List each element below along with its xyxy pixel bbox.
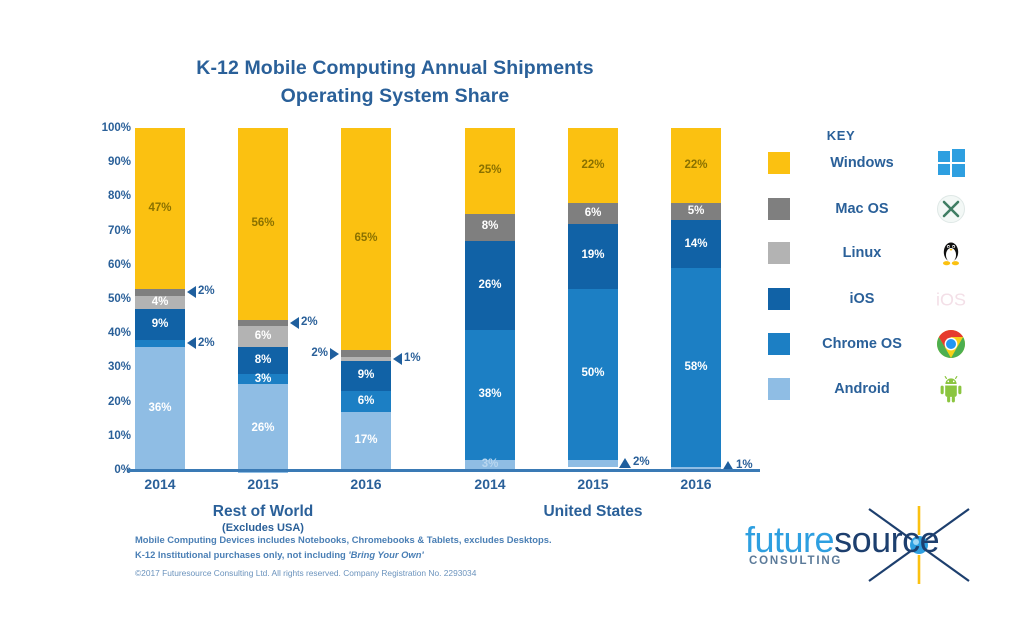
logo-word-source: source — [834, 519, 939, 560]
segment-value-label: 5% — [688, 206, 705, 218]
segment-value-label: 6% — [255, 331, 272, 343]
bar-segment[interactable]: 58% — [671, 268, 721, 466]
legend-item-mac-os[interactable]: Mac OS — [768, 196, 968, 222]
bar-segment[interactable]: 2%2% — [568, 460, 618, 467]
value-callout: 1% — [391, 353, 423, 365]
footnote-line-2-italic: 'Bring Your Own' — [348, 549, 423, 560]
bar-segment[interactable]: 22% — [671, 128, 721, 203]
bar-segment[interactable]: 50% — [568, 289, 618, 460]
segment-value-label: 4% — [152, 297, 169, 309]
group-label-text: United States — [503, 503, 683, 521]
legend-color-swatch — [768, 378, 790, 400]
legend-item-windows[interactable]: Windows — [768, 150, 968, 176]
bar-segment[interactable]: 4% — [135, 296, 185, 310]
bar-segment[interactable]: 2%2% — [135, 289, 185, 296]
legend-item-ios[interactable]: iOSiOS — [768, 286, 968, 312]
legend-color-swatch — [768, 198, 790, 220]
bar-segment[interactable]: 22% — [568, 128, 618, 203]
callout-value-label: 2% — [196, 338, 217, 350]
bar-segment[interactable]: 36% — [135, 347, 185, 470]
y-axis-tick-label: 30% — [87, 361, 131, 373]
axis-group-label: Rest of World(Excludes USA) — [173, 503, 353, 534]
legend-item-chrome-os[interactable]: Chrome OS — [768, 331, 968, 357]
segment-value-label: 3% — [255, 374, 272, 386]
y-axis-tick-label: 80% — [87, 190, 131, 202]
callout-arrow-icon — [619, 458, 631, 468]
callout-arrow-icon — [187, 337, 196, 349]
x-axis-tick-label: 2014 — [130, 476, 190, 492]
y-axis-tick-label: 60% — [87, 259, 131, 271]
chart-title-line-2: Operating System Share — [0, 83, 790, 111]
logo-tagline: CONSULTING — [749, 555, 842, 567]
callout-arrow-icon — [330, 348, 339, 360]
bar-segment[interactable]: 2%2% — [341, 350, 391, 357]
segment-value-label: 50% — [581, 368, 604, 380]
value-callout: 2% — [288, 317, 320, 329]
callout-arrow-icon — [290, 317, 299, 329]
bar-segment[interactable]: 6% — [568, 203, 618, 224]
svg-text:iOS: iOS — [936, 290, 966, 310]
chrome-logo-icon — [934, 329, 968, 359]
plot-area: 47%2%2%4%9%2%2%36%56%2%2%6%8%3%26%65%2%2… — [135, 128, 760, 470]
bar-segment[interactable]: 38% — [465, 330, 515, 460]
bar-segment[interactable]: 19% — [568, 224, 618, 289]
bar-segment[interactable]: 47% — [135, 128, 185, 289]
segment-value-label: 65% — [354, 233, 377, 245]
bar-segment[interactable]: 8% — [465, 214, 515, 241]
legend-color-swatch — [768, 152, 790, 174]
bar-segment[interactable]: 3% — [238, 374, 288, 384]
bar-segment[interactable]: 26% — [238, 384, 288, 473]
logo-word-future: future — [745, 519, 834, 560]
legend-color-swatch — [768, 242, 790, 264]
y-axis-tick-label: 0% — [87, 464, 131, 476]
x-axis-baseline — [128, 469, 760, 472]
bar-segment[interactable]: 2%2% — [238, 320, 288, 327]
segment-value-label: 26% — [478, 280, 501, 292]
bar-segment[interactable]: 17% — [341, 412, 391, 470]
stacked-bar[interactable]: 25%8%26%38%3% — [465, 128, 515, 470]
segment-value-label: 9% — [152, 319, 169, 331]
windows-logo-icon — [934, 148, 968, 178]
y-axis-tick-label: 70% — [87, 225, 131, 237]
stacked-bar[interactable]: 56%2%2%6%8%3%26% — [238, 128, 288, 470]
x-axis-tick-label: 2015 — [563, 476, 623, 492]
legend-item-label: iOS — [790, 291, 934, 307]
legend-color-swatch — [768, 333, 790, 355]
legend-item-label: Linux — [790, 245, 934, 261]
android-logo-icon — [934, 374, 968, 404]
stacked-bar[interactable]: 47%2%2%4%9%2%2%36% — [135, 128, 185, 470]
legend-item-android[interactable]: Android — [768, 376, 968, 402]
footnotes: Mobile Computing Devices includes Notebo… — [135, 533, 552, 562]
callout-value-label: 2% — [631, 457, 652, 469]
legend-item-label: Chrome OS — [790, 336, 934, 352]
x-axis-tick-label: 2016 — [336, 476, 396, 492]
callout-arrow-icon — [393, 353, 402, 365]
footnote-line-2: K-12 Institutional purchases only, not i… — [135, 548, 552, 563]
bar-segment[interactable]: 8% — [238, 347, 288, 374]
bar-segment[interactable]: 9% — [341, 361, 391, 392]
y-axis-tick-label: 100% — [87, 122, 131, 134]
stacked-bar[interactable]: 65%2%2%1%1%9%6%17% — [341, 128, 391, 470]
chart-title-line-1: K-12 Mobile Computing Annual Shipments — [0, 55, 790, 83]
segment-value-label: 36% — [148, 403, 171, 415]
x-axis-tick-label: 2015 — [233, 476, 293, 492]
value-callout: 2% — [309, 348, 341, 360]
footnote-line-1: Mobile Computing Devices includes Notebo… — [135, 533, 552, 548]
segment-value-label: 47% — [148, 203, 171, 215]
copyright-notice: ©2017 Futuresource Consulting Ltd. All r… — [135, 568, 476, 578]
bar-segment[interactable]: 9% — [135, 309, 185, 340]
segment-value-label: 22% — [684, 160, 707, 172]
bar-segment[interactable]: 6% — [341, 391, 391, 412]
x-axis-tick-label: 2014 — [460, 476, 520, 492]
segment-value-label: 22% — [581, 160, 604, 172]
callout-value-label: 2% — [299, 317, 320, 329]
segment-value-label: 38% — [478, 389, 501, 401]
footnote-line-2-prefix: K-12 Institutional purchases only, not i… — [135, 549, 348, 560]
callout-arrow-icon — [187, 286, 196, 298]
group-label-text: Rest of World — [173, 503, 353, 521]
bar-segment[interactable]: 56% — [238, 128, 288, 320]
segment-value-label: 8% — [482, 221, 499, 233]
bar-segment[interactable]: 5% — [671, 203, 721, 220]
callout-value-label: 2% — [309, 348, 330, 360]
y-axis-tick-label: 10% — [87, 430, 131, 442]
y-axis-tick-label: 40% — [87, 327, 131, 339]
segment-value-label: 25% — [478, 165, 501, 177]
futuresource-logo: futuresource CONSULTING — [745, 505, 985, 585]
segment-value-label: 14% — [684, 239, 707, 251]
segment-value-label: 56% — [251, 218, 274, 230]
bar-segment[interactable]: 2%2% — [135, 340, 185, 347]
segment-value-label: 6% — [585, 208, 602, 220]
legend-title: KEY — [776, 128, 906, 143]
bar-segment[interactable]: 65% — [341, 128, 391, 350]
stacked-bar[interactable]: 22%6%19%50%2%2% — [568, 128, 618, 470]
chart-title: K-12 Mobile Computing Annual Shipments O… — [0, 55, 790, 110]
segment-value-label: 19% — [581, 250, 604, 262]
bar-segment[interactable]: 14% — [671, 220, 721, 268]
legend-item-label: Android — [790, 381, 934, 397]
y-axis-tick-label: 90% — [87, 156, 131, 168]
segment-value-label: 26% — [251, 423, 274, 435]
callout-value-label: 1% — [402, 353, 423, 365]
bar-segment[interactable]: 6% — [238, 326, 288, 347]
value-callout: 2% — [185, 286, 217, 298]
legend: KEY WindowsMac OSLinuxiOSiOSChrome OSAnd… — [768, 128, 968, 143]
bar-segment[interactable]: 25% — [465, 128, 515, 214]
legend-color-swatch — [768, 288, 790, 310]
value-callout: 2% — [185, 337, 217, 349]
value-callout: 2% — [618, 457, 652, 469]
segment-value-label: 8% — [255, 355, 272, 367]
x-axis-tick-label: 2016 — [666, 476, 726, 492]
segment-value-label: 17% — [354, 435, 377, 447]
segment-value-label: 9% — [358, 370, 375, 382]
y-axis: 100%90%80%70%60%50%40%30%20%10%0% — [87, 128, 131, 470]
linux-tux-logo-icon — [934, 238, 968, 268]
legend-item-linux[interactable]: Linux — [768, 240, 968, 266]
ios-logo-icon: iOS — [934, 284, 968, 314]
axis-group-label: United States — [503, 503, 683, 521]
stacked-bar[interactable]: 22%5%14%58%1%1% — [671, 128, 721, 470]
legend-item-label: Windows — [790, 155, 934, 171]
bar-segment[interactable]: 26% — [465, 241, 515, 330]
y-axis-tick-label: 50% — [87, 293, 131, 305]
segment-value-label: 58% — [684, 362, 707, 374]
legend-item-label: Mac OS — [790, 201, 934, 217]
macos-x-logo-icon — [934, 194, 968, 224]
segment-value-label: 6% — [358, 396, 375, 408]
callout-value-label: 2% — [196, 286, 217, 298]
y-axis-tick-label: 20% — [87, 396, 131, 408]
